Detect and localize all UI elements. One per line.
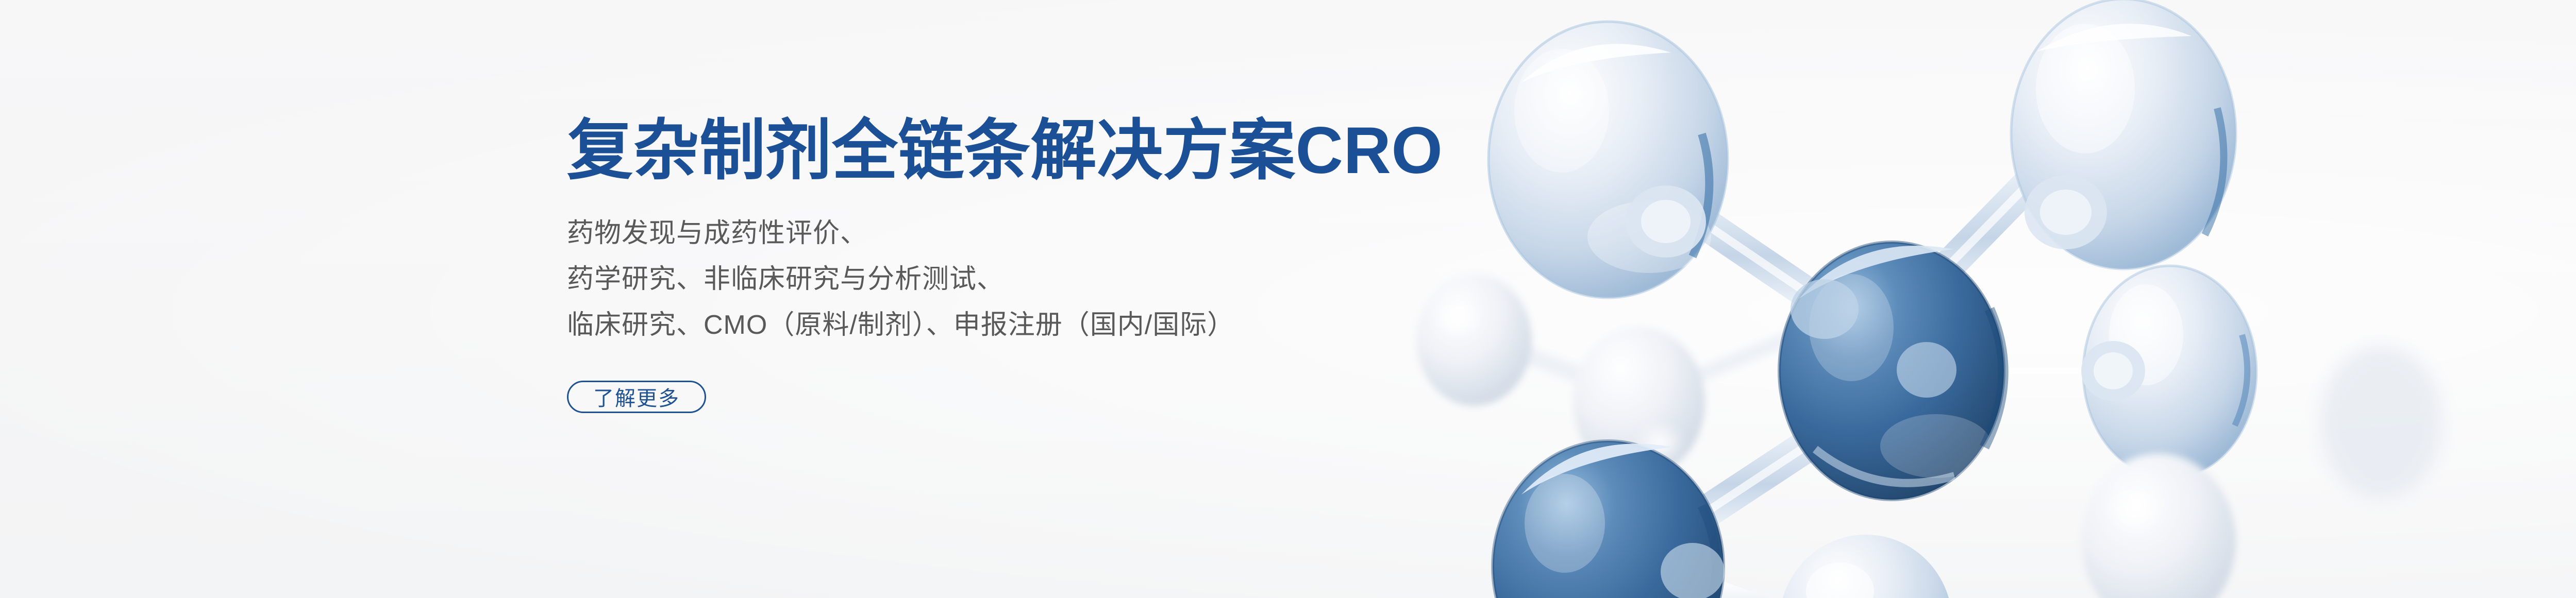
subtitle-line: 临床研究、CMO（原料/制剂）、申报注册（国内/国际） <box>567 302 1443 348</box>
subtitle-list: 药物发现与成药性评价、 药学研究、非临床研究与分析测试、 临床研究、CMO（原料… <box>567 211 1443 349</box>
learn-more-button[interactable]: 了解更多 <box>567 381 706 413</box>
molecule-illustration <box>1319 0 2576 598</box>
page-title: 复杂制剂全链条解决方案CRO <box>567 117 1443 185</box>
subtitle-line: 药学研究、非临床研究与分析测试、 <box>567 257 1443 302</box>
hero-copy: 复杂制剂全链条解决方案CRO 药物发现与成药性评价、 药学研究、非临床研究与分析… <box>567 117 1443 413</box>
hero-banner: 复杂制剂全链条解决方案CRO 药物发现与成药性评价、 药学研究、非临床研究与分析… <box>0 0 2576 598</box>
subtitle-line: 药物发现与成药性评价、 <box>567 211 1443 257</box>
